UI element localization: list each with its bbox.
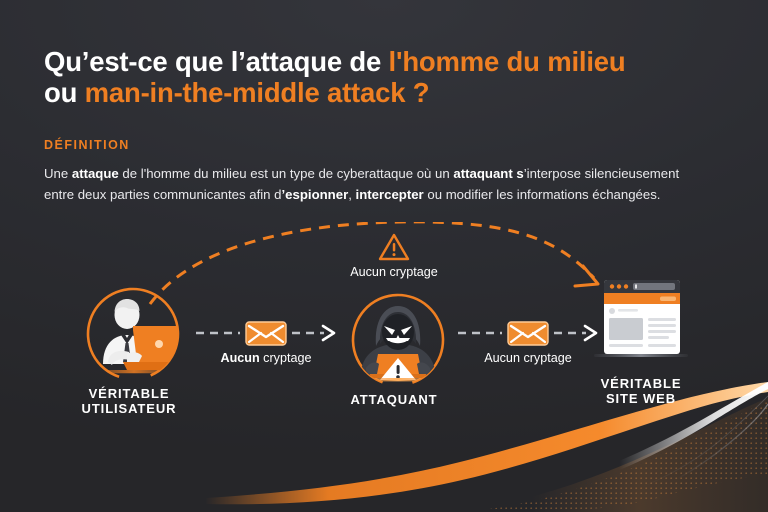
node-website-label: VÉRITABLE SITE WEB	[576, 376, 706, 406]
title-line1-accent: l'homme du milieu	[389, 46, 626, 77]
header-block: Qu’est-ce que l’attaque de l'homme du mi…	[44, 46, 734, 108]
node-user[interactable]: VÉRITABLE UTILISATEUR	[64, 282, 194, 416]
infographic-canvas: Qu’est-ce que l’attaque de l'homme du mi…	[0, 0, 768, 512]
dashed-arrow-with-envelope	[196, 318, 336, 348]
browser-window-icon	[586, 274, 696, 374]
warning-triangle-icon	[377, 232, 411, 262]
node-user-label: VÉRITABLE UTILISATEUR	[64, 386, 194, 416]
def-seg-2: attaque	[72, 166, 119, 181]
attacker-ring	[346, 288, 442, 384]
node-website[interactable]: VÉRITABLE SITE WEB	[576, 274, 706, 406]
page-title: Qu’est-ce que l’attaque de l'homme du mi…	[44, 46, 734, 108]
arc-warning-group: Aucun cryptage	[329, 232, 459, 279]
arc-caption: Aucun cryptage	[329, 265, 459, 279]
title-line2-accent: man-in-the-middle attack ?	[85, 77, 430, 108]
def-seg-5: s	[513, 166, 524, 181]
link-1-caption-bold: Aucun	[221, 351, 260, 365]
node-attacker-label: ATTAQUANT	[329, 392, 459, 407]
def-seg-9: inter	[356, 187, 385, 202]
def-seg-11: ou modifier les informations échangées.	[424, 187, 661, 202]
envelope-icon	[246, 322, 286, 345]
user-at-laptop-icon	[81, 282, 185, 386]
def-seg-1: Une	[44, 166, 72, 181]
def-seg-4: attaquant	[453, 166, 512, 181]
node-attacker[interactable]: ATTAQUANT	[329, 288, 459, 407]
def-seg-7: ’espionner	[282, 187, 349, 202]
title-line2-plain: ou	[44, 77, 85, 108]
definition-label: DÉFINITION	[44, 138, 130, 152]
mitm-diagram: Aucun cryptage	[0, 222, 768, 422]
user-ring	[81, 282, 177, 378]
link-user-to-attacker: Aucun cryptage	[196, 318, 336, 365]
def-seg-3: de l'homme du milieu est un type de cybe…	[119, 166, 454, 181]
link-1-caption: Aucun cryptage	[196, 351, 336, 365]
hooded-hacker-icon	[346, 288, 450, 392]
website-visual	[586, 274, 696, 374]
link-2-caption-rest: Aucun cryptage	[484, 351, 572, 365]
definition-text: Une attaque de l'homme du milieu est un …	[44, 163, 710, 205]
link-1-caption-rest: cryptage	[260, 351, 312, 365]
envelope-icon	[508, 322, 548, 345]
title-line1-plain: Qu’est-ce que l’attaque de	[44, 46, 389, 77]
def-seg-10: cepter	[384, 187, 424, 202]
def-seg-8: ,	[348, 187, 355, 202]
